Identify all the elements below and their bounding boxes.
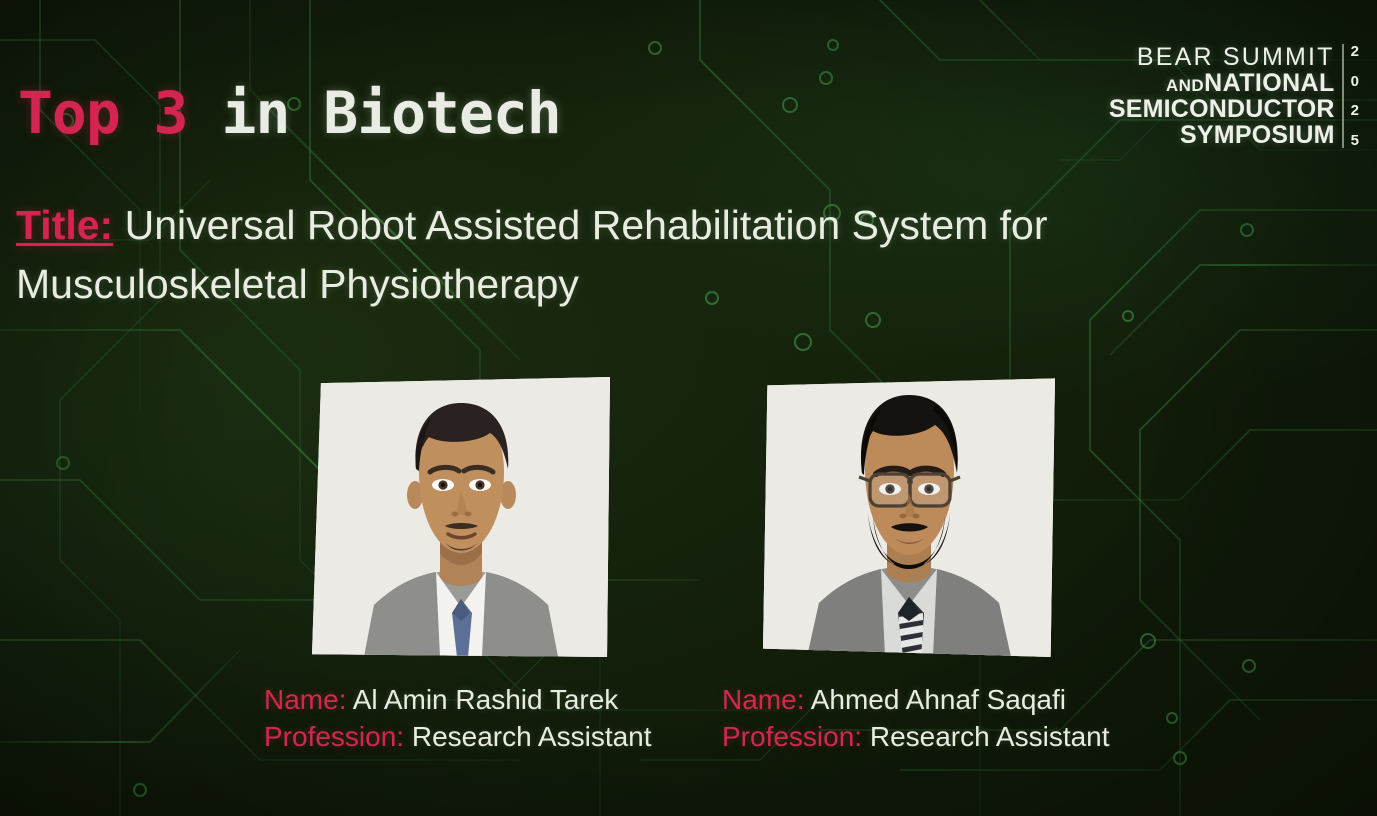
logo-line-national: ANDNATIONAL	[1109, 70, 1335, 96]
person-name-value: Al Amin Rashid Tarek	[346, 684, 618, 715]
event-logo-wordmark: BEAR SUMMIT ANDNATIONAL SEMICONDUCTOR SY…	[1109, 44, 1335, 148]
person-name-label: Name:	[264, 684, 346, 715]
person-name-label: Name:	[722, 684, 804, 715]
logo-word-national: NATIONAL	[1204, 69, 1335, 97]
portrait-image-right	[763, 377, 1055, 657]
person-profession-value: Research Assistant	[404, 721, 651, 752]
logo-year-digit: 2	[1351, 103, 1359, 118]
person-profession-row: Profession: Research Assistant	[722, 718, 1110, 755]
portrait-image-left	[312, 377, 610, 657]
portrait-photo-left	[312, 377, 610, 657]
logo-year-digit: 2	[1351, 44, 1359, 59]
logo-line-symposium: SYMPOSIUM	[1109, 122, 1335, 148]
project-title-label: Title:	[16, 202, 113, 248]
person-profession-label: Profession:	[264, 721, 404, 752]
person-meta-left: Name: Al Amin Rashid Tarek Profession: R…	[264, 681, 652, 755]
logo-year-digit: 5	[1351, 133, 1359, 148]
person-name-row: Name: Ahmed Ahnaf Saqafi	[722, 681, 1110, 718]
headline: Top 3 in Biotech	[18, 84, 561, 142]
logo-year-digit: 0	[1351, 74, 1359, 89]
headline-suffix: in Biotech	[188, 79, 561, 147]
event-logo: BEAR SUMMIT ANDNATIONAL SEMICONDUCTOR SY…	[1109, 44, 1359, 148]
project-title: Title: Universal Robot Assisted Rehabili…	[16, 196, 1151, 313]
person-profession-value: Research Assistant	[862, 721, 1109, 752]
logo-year: 2 0 2 5	[1342, 44, 1359, 148]
person-name-row: Name: Al Amin Rashid Tarek	[264, 681, 652, 718]
project-title-text: Universal Robot Assisted Rehabilitation …	[16, 202, 1048, 307]
portrait-photo-right	[763, 377, 1055, 657]
headline-rank: Top 3	[18, 79, 188, 147]
logo-word-and: AND	[1166, 76, 1204, 95]
person-name-value: Ahmed Ahnaf Saqafi	[804, 684, 1066, 715]
person-profession-row: Profession: Research Assistant	[264, 718, 652, 755]
logo-line-bear-summit: BEAR SUMMIT	[1109, 44, 1335, 70]
person-profession-label: Profession:	[722, 721, 862, 752]
presentation-slide: Top 3 in Biotech Title: Universal Robot …	[0, 0, 1377, 816]
logo-line-semiconductor: SEMICONDUCTOR	[1109, 96, 1335, 122]
person-meta-right: Name: Ahmed Ahnaf Saqafi Profession: Res…	[722, 681, 1110, 755]
